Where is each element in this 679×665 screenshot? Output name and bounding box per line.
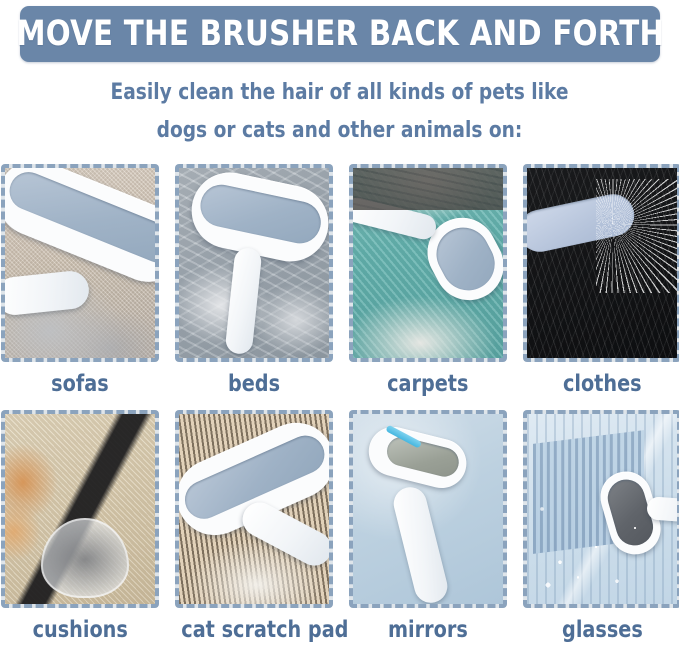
photo-scene-glass <box>527 414 677 604</box>
brusher-tool <box>363 422 471 494</box>
photo-scene-bed <box>179 168 329 358</box>
page-title: MOVE THE BRUSHER BACK AND FORTH <box>16 14 664 54</box>
brusher-pad <box>604 476 658 550</box>
grid-item-beds: beds <box>175 164 333 406</box>
caption-mirrors: mirrors <box>349 608 507 652</box>
grid-item-glasses: glasses <box>523 410 679 652</box>
grid-item-cat-scratch-pad: cat scratch pad <box>175 410 333 652</box>
brusher-tool <box>594 466 666 560</box>
caption-beds: beds <box>175 362 333 406</box>
photo-scene-scratch-pad <box>179 414 329 604</box>
photo-scene-clothes <box>527 168 677 358</box>
photo-scene-cushion <box>5 414 155 604</box>
brusher-tool <box>527 190 638 255</box>
brusher-pad <box>527 190 638 255</box>
photo-scene-carpet <box>353 168 503 358</box>
brusher-head <box>594 466 666 560</box>
photo-glasses <box>523 410 679 608</box>
grid-item-carpets: carpets <box>349 164 507 406</box>
photo-cushions <box>1 410 159 608</box>
caption-sofas: sofas <box>1 362 159 406</box>
brusher-handle <box>225 247 263 356</box>
photo-scene-sofa <box>5 168 155 358</box>
grid-item-clothes: clothes <box>523 164 679 406</box>
brusher-handle <box>646 496 677 522</box>
header-banner: MOVE THE BRUSHER BACK AND FORTH <box>20 6 660 62</box>
photo-mirrors <box>349 410 507 608</box>
surface-grid: sofas beds carpets <box>0 164 679 652</box>
caption-cat-scratch-pad: cat scratch pad <box>175 608 333 652</box>
subtitle: Easily clean the hair of all kinds of pe… <box>0 74 679 150</box>
photo-clothes <box>523 164 679 362</box>
grid-item-mirrors: mirrors <box>349 410 507 652</box>
caption-clothes: clothes <box>523 362 679 406</box>
subtitle-line-2: dogs or cats and other animals on: <box>20 112 658 150</box>
brusher-handle <box>5 270 91 318</box>
caption-carpets: carpets <box>349 362 507 406</box>
caption-glasses: glasses <box>523 608 679 652</box>
brusher-handle <box>390 484 451 604</box>
subtitle-line-1: Easily clean the hair of all kinds of pe… <box>20 74 658 112</box>
brusher-handle <box>353 195 439 241</box>
photo-scene-mirror <box>353 414 503 604</box>
photo-carpets <box>349 164 507 362</box>
caption-cushions: cushions <box>1 608 159 652</box>
grid-item-cushions: cushions <box>1 410 159 652</box>
photo-beds <box>175 164 333 362</box>
grid-item-sofas: sofas <box>1 164 159 406</box>
photo-sofas <box>1 164 159 362</box>
photo-cat-scratch-pad <box>175 410 333 608</box>
